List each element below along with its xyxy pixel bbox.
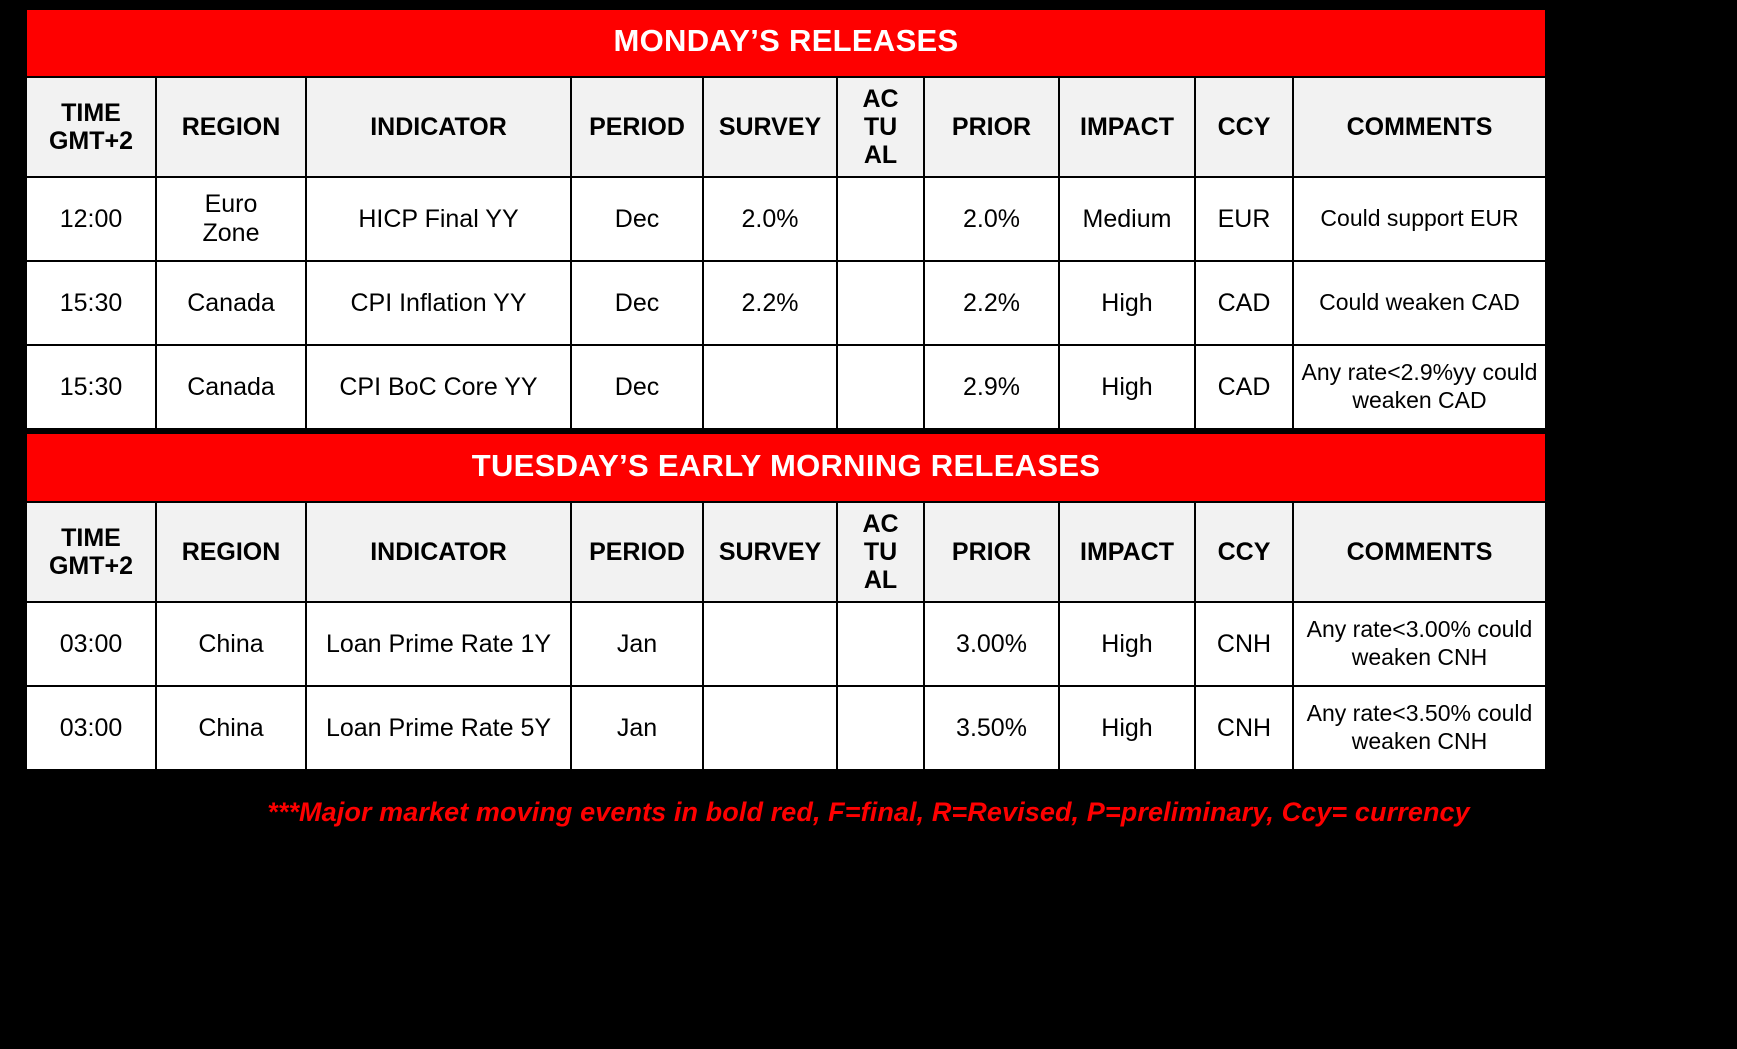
cell-prior: 3.50% <box>924 686 1059 770</box>
column-header-ccy[interactable]: CCY <box>1195 77 1293 177</box>
column-header-actual[interactable]: ACTUAL <box>837 502 924 602</box>
cell-actual <box>837 686 924 770</box>
cell-region: China <box>156 602 306 686</box>
cell-indicator: Loan Prime Rate 1Y <box>306 602 571 686</box>
cell-indicator: Loan Prime Rate 5Y <box>306 686 571 770</box>
cell-survey <box>703 345 837 429</box>
column-header-survey[interactable]: SURVEY <box>703 77 837 177</box>
column-header-survey[interactable]: SURVEY <box>703 502 837 602</box>
cell-survey: 2.0% <box>703 177 837 261</box>
cell-prior: 2.9% <box>924 345 1059 429</box>
column-header-time[interactable]: TIMEGMT+2 <box>26 77 156 177</box>
cell-region: China <box>156 686 306 770</box>
cell-time: 03:00 <box>26 686 156 770</box>
cell-prior: 2.2% <box>924 261 1059 345</box>
section-banner-title: MONDAY’S RELEASES <box>26 9 1546 77</box>
column-header-row: TIMEGMT+2REGIONINDICATORPERIODSURVEYACTU… <box>26 77 1546 177</box>
cell-impact: Medium <box>1059 177 1195 261</box>
cell-impact: High <box>1059 686 1195 770</box>
section-banner-title: TUESDAY’S EARLY MORNING RELEASES <box>26 434 1546 502</box>
cell-ccy: CNH <box>1195 602 1293 686</box>
cell-survey <box>703 686 837 770</box>
cell-actual <box>837 602 924 686</box>
cell-comments: Any rate<3.00% could weaken CNH <box>1293 602 1546 686</box>
column-header-comments[interactable]: COMMENTS <box>1293 502 1546 602</box>
cell-impact: High <box>1059 261 1195 345</box>
cell-period: Dec <box>571 261 703 345</box>
cell-ccy: CAD <box>1195 261 1293 345</box>
cell-comments: Could weaken CAD <box>1293 261 1546 345</box>
economic-calendar-page: MONDAY’S RELEASESTIMEGMT+2REGIONINDICATO… <box>0 0 1737 1049</box>
cell-region: Canada <box>156 261 306 345</box>
cell-prior: 2.0% <box>924 177 1059 261</box>
cell-impact: High <box>1059 602 1195 686</box>
cell-period: Jan <box>571 686 703 770</box>
section-banner-row: MONDAY’S RELEASES <box>26 9 1546 77</box>
cell-period: Dec <box>571 177 703 261</box>
cell-region: Canada <box>156 345 306 429</box>
column-header-indicator[interactable]: INDICATOR <box>306 502 571 602</box>
cell-actual <box>837 345 924 429</box>
table-row: 12:00EuroZoneHICP Final YYDec2.0%2.0%Med… <box>26 177 1546 261</box>
economic-calendar-table: MONDAY’S RELEASESTIMEGMT+2REGIONINDICATO… <box>25 8 1547 771</box>
cell-actual <box>837 177 924 261</box>
column-header-prior[interactable]: PRIOR <box>924 502 1059 602</box>
cell-prior: 3.00% <box>924 602 1059 686</box>
column-header-comments[interactable]: COMMENTS <box>1293 77 1546 177</box>
cell-survey: 2.2% <box>703 261 837 345</box>
footnote-legend: ***Major market moving events in bold re… <box>109 797 1629 828</box>
cell-period: Jan <box>571 602 703 686</box>
cell-ccy: EUR <box>1195 177 1293 261</box>
cell-ccy: CNH <box>1195 686 1293 770</box>
column-header-region[interactable]: REGION <box>156 77 306 177</box>
cell-time: 03:00 <box>26 602 156 686</box>
table-row: 15:30CanadaCPI Inflation YYDec2.2%2.2%Hi… <box>26 261 1546 345</box>
column-header-time[interactable]: TIMEGMT+2 <box>26 502 156 602</box>
column-header-prior[interactable]: PRIOR <box>924 77 1059 177</box>
column-header-region[interactable]: REGION <box>156 502 306 602</box>
cell-time: 12:00 <box>26 177 156 261</box>
table-row: 03:00ChinaLoan Prime Rate 1YJan3.00%High… <box>26 602 1546 686</box>
cell-ccy: CAD <box>1195 345 1293 429</box>
column-header-impact[interactable]: IMPACT <box>1059 502 1195 602</box>
cell-indicator: CPI Inflation YY <box>306 261 571 345</box>
cell-actual <box>837 261 924 345</box>
table-row: 03:00ChinaLoan Prime Rate 5YJan3.50%High… <box>26 686 1546 770</box>
cell-indicator: HICP Final YY <box>306 177 571 261</box>
column-header-row: TIMEGMT+2REGIONINDICATORPERIODSURVEYACTU… <box>26 502 1546 602</box>
cell-impact: High <box>1059 345 1195 429</box>
column-header-period[interactable]: PERIOD <box>571 502 703 602</box>
table-row: 15:30CanadaCPI BoC Core YYDec2.9%HighCAD… <box>26 345 1546 429</box>
section-banner-row: TUESDAY’S EARLY MORNING RELEASES <box>26 434 1546 502</box>
column-header-period[interactable]: PERIOD <box>571 77 703 177</box>
cell-region: EuroZone <box>156 177 306 261</box>
column-header-indicator[interactable]: INDICATOR <box>306 77 571 177</box>
cell-comments: Could support EUR <box>1293 177 1546 261</box>
cell-time: 15:30 <box>26 261 156 345</box>
cell-time: 15:30 <box>26 345 156 429</box>
column-header-impact[interactable]: IMPACT <box>1059 77 1195 177</box>
cell-indicator: CPI BoC Core YY <box>306 345 571 429</box>
column-header-ccy[interactable]: CCY <box>1195 502 1293 602</box>
cell-comments: Any rate<2.9%yy could weaken CAD <box>1293 345 1546 429</box>
column-header-actual[interactable]: ACTUAL <box>837 77 924 177</box>
cell-survey <box>703 602 837 686</box>
cell-period: Dec <box>571 345 703 429</box>
cell-comments: Any rate<3.50% could weaken CNH <box>1293 686 1546 770</box>
